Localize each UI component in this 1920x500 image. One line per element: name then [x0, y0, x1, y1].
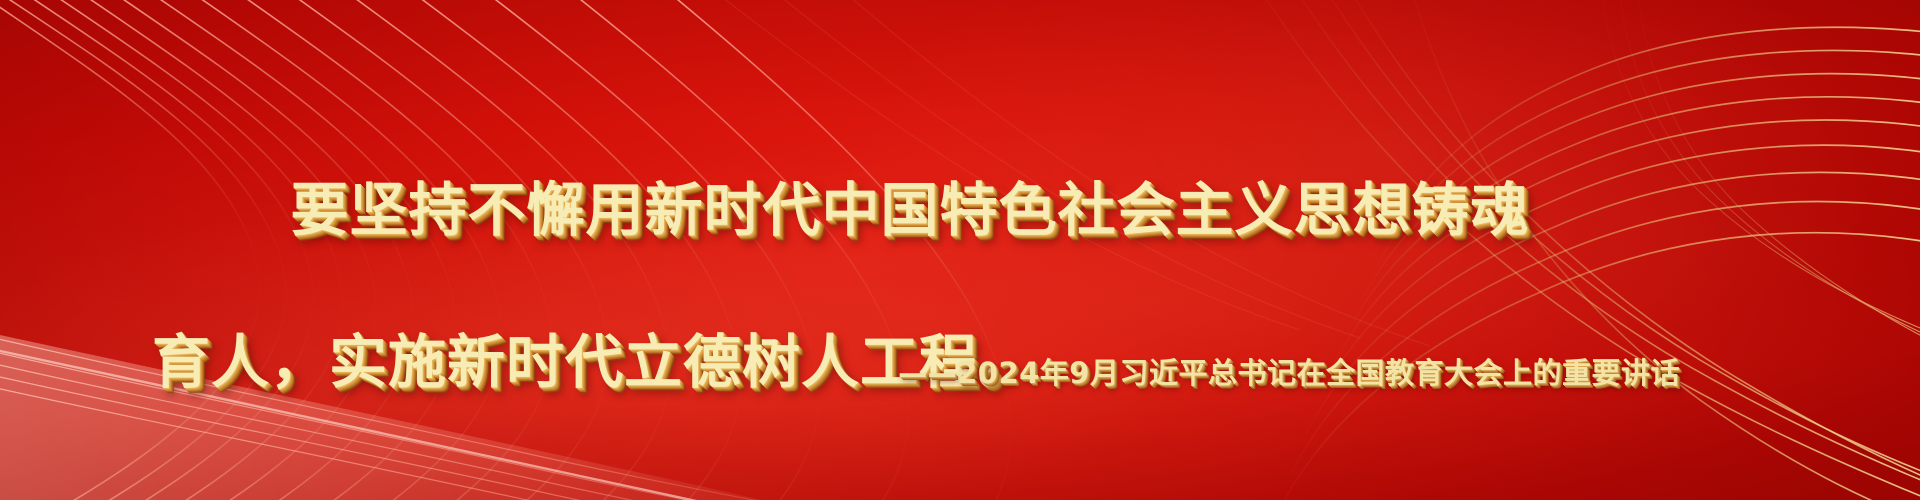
- text-content: 要坚持不懈用新时代中国特色社会主义思想铸魂 育人，实施新时代立德树人工程。 ——…: [0, 0, 1920, 500]
- quote-text: 要坚持不懈用新时代中国特色社会主义思想铸魂 育人，实施新时代立德树人工程。: [130, 96, 1690, 476]
- red-banner: 要坚持不懈用新时代中国特色社会主义思想铸魂 育人，实施新时代立德树人工程。 ——…: [0, 0, 1920, 500]
- quote-line-1: 要坚持不懈用新时代中国特色社会主义思想铸魂: [130, 172, 1690, 248]
- attribution-text: ——2024年9月习近平总书记在全国教育大会上的重要讲话: [0, 352, 1680, 394]
